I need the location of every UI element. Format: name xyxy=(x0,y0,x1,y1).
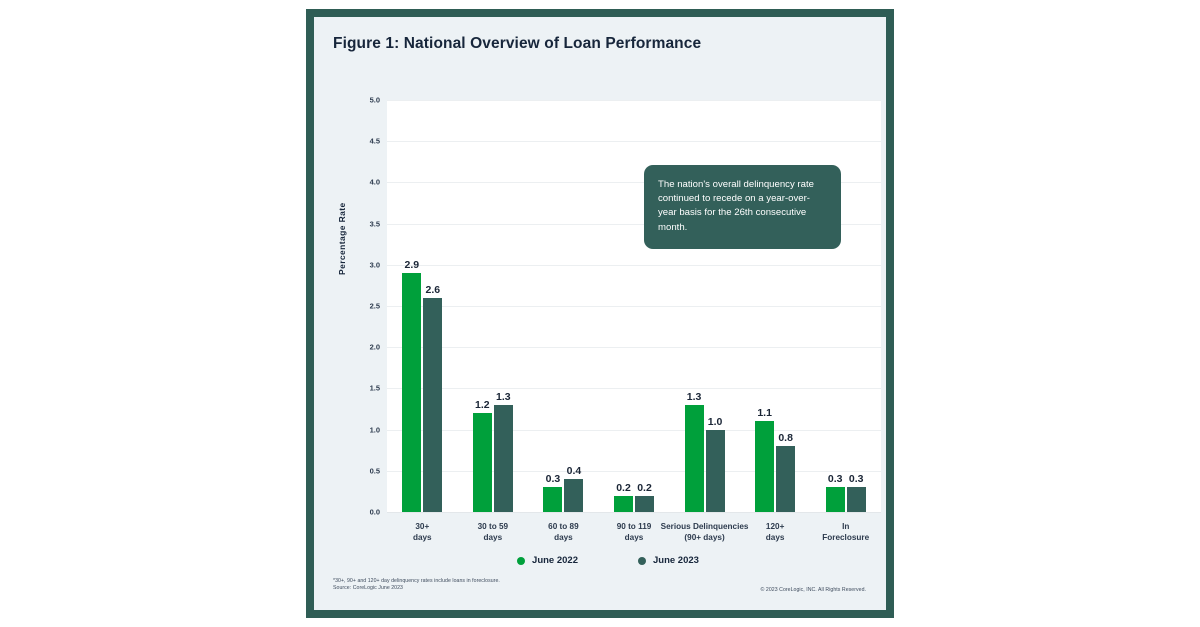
bar-value-label: 2.6 xyxy=(425,284,440,296)
bar-value-label: 0.8 xyxy=(778,432,793,444)
bar-group: 2.92.630+days xyxy=(402,100,442,512)
legend-dot-icon xyxy=(638,557,646,565)
y-axis-tick-label: 3.0 xyxy=(370,260,380,269)
x-axis-tick-line: 30+ xyxy=(413,521,432,532)
bar-value-label: 0.3 xyxy=(849,473,864,485)
bar: 1.1 xyxy=(755,421,774,512)
x-axis-tick-label: InForeclosure xyxy=(822,521,869,543)
x-axis-tick-line: Foreclosure xyxy=(822,532,869,543)
page-title: Figure 1: National Overview of Loan Perf… xyxy=(333,35,701,53)
bar: 0.4 xyxy=(564,479,583,512)
bar-value-label: 0.3 xyxy=(828,473,843,485)
legend-item[interactable]: June 2022 xyxy=(517,555,578,566)
x-axis-tick-label: Serious Delinquencies(90+ days) xyxy=(661,521,749,543)
y-axis-tick-label: 2.0 xyxy=(370,343,380,352)
x-axis-tick-line: 90 to 119 xyxy=(617,521,652,532)
x-axis-tick-label: 90 to 119days xyxy=(617,521,652,543)
bar-value-label: 1.0 xyxy=(708,416,723,428)
x-axis-tick-line: days xyxy=(766,532,785,543)
x-axis-tick-label: 30 to 59days xyxy=(478,521,509,543)
screenshot-canvas: Figure 1: National Overview of Loan Perf… xyxy=(0,0,1200,627)
bar: 1.3 xyxy=(494,405,513,512)
bar: 1.2 xyxy=(473,413,492,512)
bar-group: 0.30.3InForeclosure xyxy=(826,100,866,512)
x-axis-tick-label: 60 to 89days xyxy=(548,521,579,543)
y-axis-tick-label: 1.0 xyxy=(370,425,380,434)
bar: 0.8 xyxy=(776,446,795,512)
bar: 0.3 xyxy=(543,487,562,512)
bar-value-label: 1.3 xyxy=(687,391,702,403)
x-axis-tick-line: In xyxy=(822,521,869,532)
x-axis-tick-line: days xyxy=(478,532,509,543)
footnote-line-1: *30+, 90+ and 120+ day delinquency rates… xyxy=(333,578,500,586)
figure-card: Figure 1: National Overview of Loan Perf… xyxy=(314,17,886,610)
y-axis-tick-label: 0.0 xyxy=(370,508,380,517)
bar-group: 1.31.0Serious Delinquencies(90+ days) xyxy=(685,100,725,512)
y-axis-tick-label: 5.0 xyxy=(370,96,380,105)
chart-legend: June 2022June 2023 xyxy=(332,555,884,566)
bar-group: 0.20.290 to 119days xyxy=(614,100,654,512)
footnote-line-2: Source: CoreLogic June 2023 xyxy=(333,585,500,593)
x-axis-tick-line: 120+ xyxy=(766,521,785,532)
figure-frame: Figure 1: National Overview of Loan Perf… xyxy=(306,9,894,618)
gridline xyxy=(387,512,881,513)
bar: 0.3 xyxy=(826,487,845,512)
y-axis-tick-label: 2.5 xyxy=(370,302,380,311)
bar-value-label: 0.2 xyxy=(637,482,652,494)
y-axis-title: Percentage Rate xyxy=(337,261,347,275)
y-axis-tick-label: 3.5 xyxy=(370,219,380,228)
x-axis-tick-label: 120+days xyxy=(766,521,785,543)
legend-dot-icon xyxy=(517,557,525,565)
bar-groups: 2.92.630+days1.21.330 to 59days0.30.460 … xyxy=(387,100,881,512)
x-axis-tick-line: days xyxy=(617,532,652,543)
bar-value-label: 1.3 xyxy=(496,391,511,403)
bar: 2.6 xyxy=(423,298,442,512)
y-axis-tick-label: 1.5 xyxy=(370,384,380,393)
x-axis-tick-line: (90+ days) xyxy=(661,532,749,543)
x-axis-tick-line: Serious Delinquencies xyxy=(661,521,749,532)
bar-value-label: 1.1 xyxy=(757,407,772,419)
y-axis-tick-label: 0.5 xyxy=(370,466,380,475)
x-axis-tick-line: 30 to 59 xyxy=(478,521,509,532)
x-axis-tick-line: days xyxy=(548,532,579,543)
bar: 1.0 xyxy=(706,430,725,512)
x-axis-tick-line: days xyxy=(413,532,432,543)
bar: 0.2 xyxy=(635,496,654,512)
bar-group: 1.10.8120+days xyxy=(755,100,795,512)
copyright-notice: © 2023 CoreLogic, INC. All Rights Reserv… xyxy=(761,587,866,593)
y-axis-tick-label: 4.0 xyxy=(370,178,380,187)
bar-value-label: 0.4 xyxy=(567,465,582,477)
bar-group: 1.21.330 to 59days xyxy=(473,100,513,512)
bar: 2.9 xyxy=(402,273,421,512)
bar-value-label: 2.9 xyxy=(404,259,419,271)
legend-item[interactable]: June 2023 xyxy=(638,555,699,566)
bar: 0.2 xyxy=(614,496,633,512)
bar-value-label: 0.3 xyxy=(546,473,561,485)
chart-area: Percentage Rate 0.00.51.01.52.02.53.03.5… xyxy=(332,85,884,535)
bar-group: 0.30.460 to 89days xyxy=(543,100,583,512)
legend-label: June 2023 xyxy=(653,555,699,566)
x-axis-tick-line: 60 to 89 xyxy=(548,521,579,532)
x-axis-tick-label: 30+days xyxy=(413,521,432,543)
y-axis-tick-label: 4.5 xyxy=(370,137,380,146)
bar: 0.3 xyxy=(847,487,866,512)
legend-label: June 2022 xyxy=(532,555,578,566)
callout-box: The nation's overall delinquency rate co… xyxy=(644,165,841,249)
footnote: *30+, 90+ and 120+ day delinquency rates… xyxy=(333,578,500,593)
plot-area: 0.00.51.01.52.02.53.03.54.04.55.0 2.92.6… xyxy=(387,100,881,512)
bar: 1.3 xyxy=(685,405,704,512)
bar-value-label: 1.2 xyxy=(475,399,490,411)
bar-value-label: 0.2 xyxy=(616,482,631,494)
